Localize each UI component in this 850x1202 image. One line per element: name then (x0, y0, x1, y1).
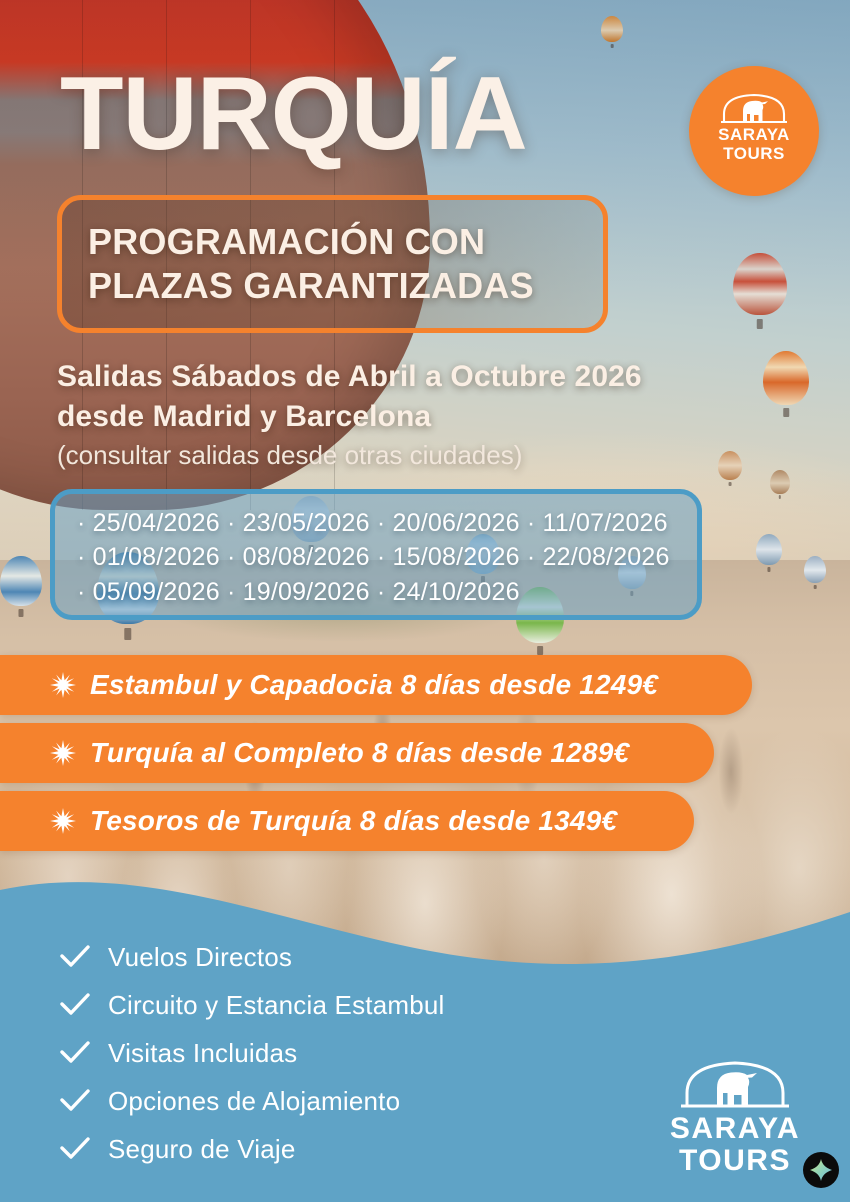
feature-label: Opciones de Alojamiento (108, 1086, 400, 1117)
feature-item-opciones-alojamiento: Opciones de Alojamiento (60, 1079, 620, 1123)
feature-item-visitas-incluidas: Visitas Incluidas (60, 1031, 620, 1075)
footer-logo-line2: TOURS (679, 1144, 791, 1177)
cupos-badge-core: SARAYA TOURS (689, 90, 819, 164)
dates-row: · 05/09/2026 · 19/09/2026 · 24/10/2026 (77, 575, 697, 609)
feature-item-seguro-viaje: Seguro de Viaje (60, 1127, 620, 1171)
check-icon (60, 1088, 90, 1114)
dates-row: · 25/04/2026 · 23/05/2026 · 20/06/2026 ·… (77, 506, 697, 540)
check-icon (60, 1136, 90, 1162)
offer-label: Turquía al Completo 8 días desde 1289€ (90, 737, 629, 769)
offers-list: Estambul y Capadocia 8 días desde 1249€ … (0, 655, 850, 859)
feature-label: Visitas Incluidas (108, 1038, 297, 1069)
ai-watermark-badge (803, 1152, 839, 1188)
camel-arch-icon (681, 1055, 789, 1109)
cupos-ring-label: CUPOS · CUPOS · CUPOS · CUPOS · (689, 66, 819, 69)
guarantee-line1: PROGRAMACIÓN CON (88, 220, 603, 264)
offer-bar-turquia-completo[interactable]: Turquía al Completo 8 días desde 1289€ (0, 723, 714, 783)
camel-arch-icon (721, 90, 787, 124)
star-burst-icon (50, 672, 76, 698)
guarantee-line2: PLAZAS GARANTIZADAS (88, 264, 603, 308)
feature-label: Circuito y Estancia Estambul (108, 990, 445, 1021)
poster: TURQUÍA CUPOS · CUPOS · CUPOS · CUPOS · … (0, 0, 850, 1202)
check-icon (60, 992, 90, 1018)
cupos-badge: CUPOS · CUPOS · CUPOS · CUPOS · SARAYA T… (689, 66, 819, 196)
dates-row: · 01/08/2026 · 08/08/2026 · 15/08/2026 ·… (77, 540, 697, 574)
feature-label: Seguro de Viaje (108, 1134, 296, 1165)
departure-dates-box: · 25/04/2026 · 23/05/2026 · 20/06/2026 ·… (50, 489, 702, 620)
departures-note: (consultar salidas desde otras ciudades) (57, 440, 817, 471)
guaranteed-seats-box: PROGRAMACIÓN CON PLAZAS GARANTIZADAS (57, 195, 608, 333)
ai-sparkle-icon (810, 1159, 832, 1181)
feature-item-vuelos-directos: Vuelos Directos (60, 935, 620, 979)
feature-item-circuito-estancia: Circuito y Estancia Estambul (60, 983, 620, 1027)
departures-block: Salidas Sábados de Abril a Octubre 2026 … (57, 357, 817, 471)
check-icon (60, 1040, 90, 1066)
star-burst-icon (50, 808, 76, 834)
check-icon (60, 944, 90, 970)
footer-logo-line1: SARAYA (670, 1112, 800, 1145)
offer-label: Tesoros de Turquía 8 días desde 1349€ (90, 805, 617, 837)
star-burst-icon (50, 740, 76, 766)
offer-label: Estambul y Capadocia 8 días desde 1249€ (90, 669, 658, 701)
features-list: Vuelos Directos Circuito y Estancia Esta… (60, 935, 620, 1175)
cupos-badge-line2: TOURS (723, 144, 785, 163)
departures-line1: Salidas Sábados de Abril a Octubre 2026 (57, 357, 817, 397)
footer-logo: SARAYA TOURS (655, 1055, 815, 1177)
offer-bar-estambul-capadocia[interactable]: Estambul y Capadocia 8 días desde 1249€ (0, 655, 752, 715)
poster-title: TURQUÍA (60, 62, 527, 166)
cupos-badge-line1: SARAYA (718, 125, 790, 144)
offer-bar-tesoros-turquia[interactable]: Tesoros de Turquía 8 días desde 1349€ (0, 791, 694, 851)
feature-label: Vuelos Directos (108, 942, 292, 973)
departures-line2: desde Madrid y Barcelona (57, 397, 817, 437)
